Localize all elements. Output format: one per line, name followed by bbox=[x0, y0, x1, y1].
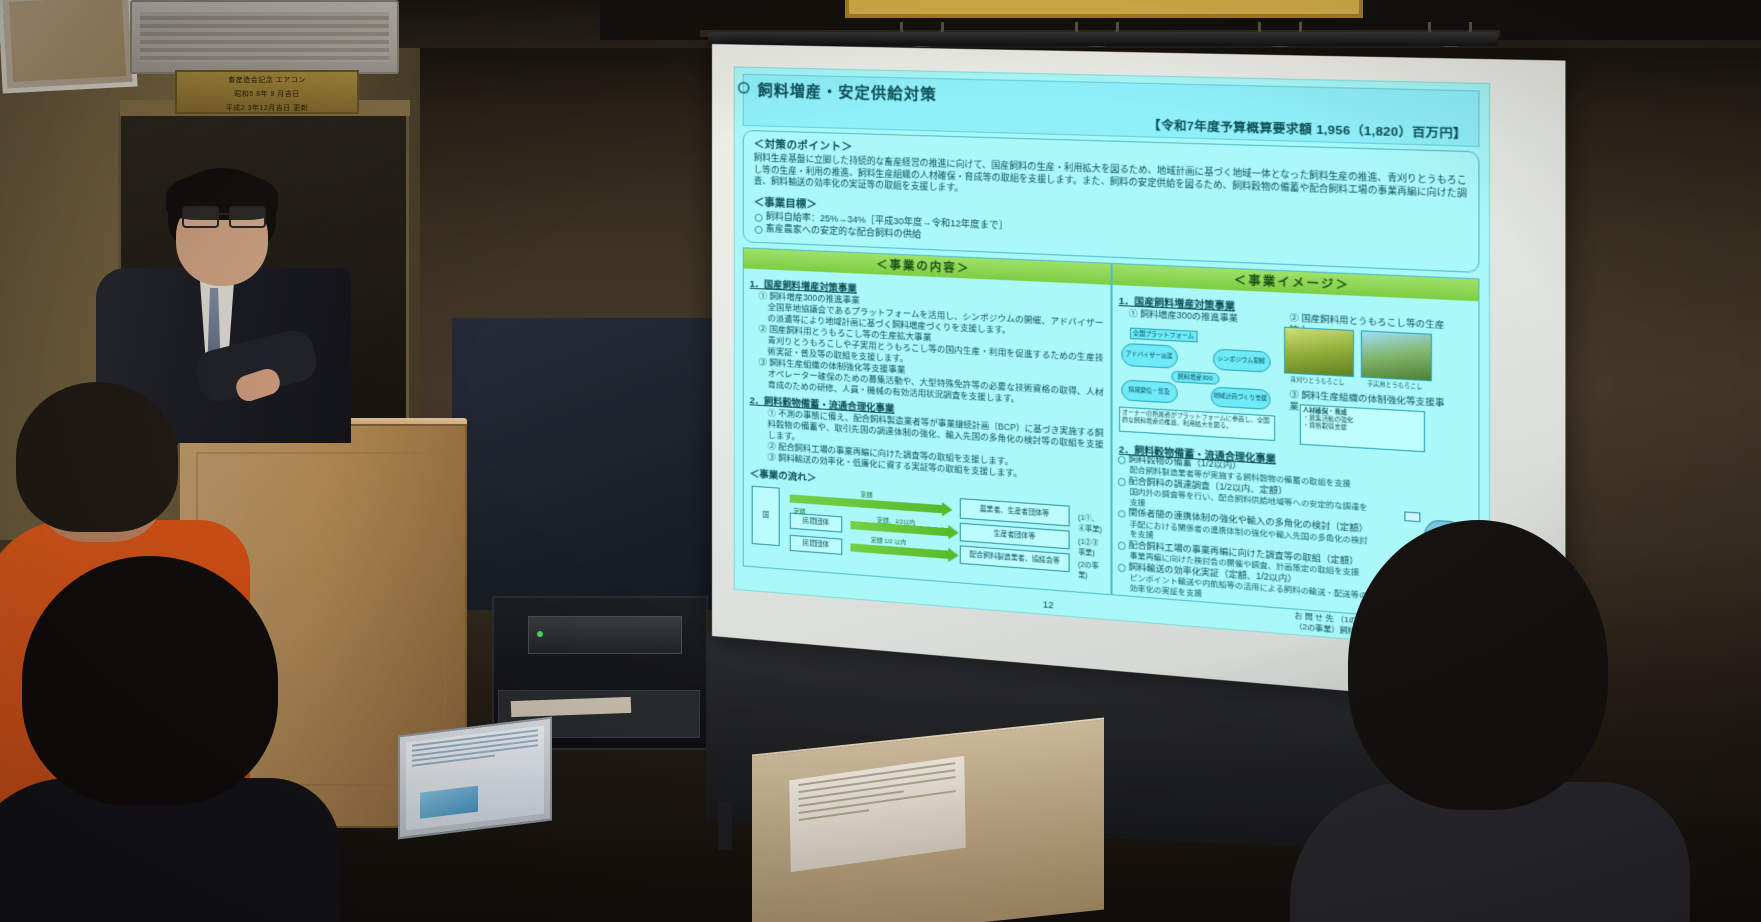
platform-chip: シンポジウム開催 bbox=[1213, 348, 1271, 372]
framed-picture-left bbox=[0, 0, 138, 93]
flow-paren: (2の事業) bbox=[1078, 558, 1103, 581]
audience-member-right-head bbox=[1348, 520, 1608, 810]
truck-icon bbox=[1404, 511, 1420, 522]
photo-field bbox=[1360, 330, 1431, 381]
laptop-screen bbox=[406, 726, 544, 831]
donation-plaque: 畜産造会記念 エアコン 昭和5 8年 9 月吉日 平成2 3年12月吉日 更新 bbox=[175, 70, 359, 114]
plaque-line-3: 平成2 3年12月吉日 更新 bbox=[177, 100, 357, 114]
page-number: 12 bbox=[1043, 599, 1054, 610]
photo-corn bbox=[1284, 326, 1354, 377]
presenter-glasses bbox=[182, 206, 262, 224]
platform-chip: 地域計画づくり支援 bbox=[1210, 386, 1270, 409]
plaque-line-2: 昭和5 8年 9 月吉日 bbox=[177, 86, 357, 100]
flow-node-kuni: 国 bbox=[752, 485, 780, 545]
flow-paren: (1②③事業) bbox=[1078, 535, 1103, 558]
column-contents-body: 1．国産飼料増産対策事業 ① 飼料増産300の推進事業 全国草地協議会であるプラ… bbox=[744, 268, 1110, 585]
slide-title-text: 飼料増産・安定供給対策 bbox=[758, 82, 937, 104]
laptop-screen-figure bbox=[420, 786, 478, 819]
conference-room-scene: 畜産造会記念 エアコン 昭和5 8年 9 月吉日 平成2 3年12月吉日 更新 … bbox=[0, 0, 1761, 922]
power-led-icon bbox=[537, 631, 543, 637]
right-bullet-list: 飼料穀物の備蓄（1/2以内） 配合飼料製造業者等が実施する飼料穀物の備蓄の取組を… bbox=[1117, 452, 1372, 612]
slide-budget-amount: 【令和7年度予算概算要求額 1,956（1,820）百万円】 bbox=[1148, 116, 1467, 142]
platform-label: 全国プラットフォーム bbox=[1130, 327, 1198, 342]
framed-picture-right bbox=[845, 0, 1363, 18]
hr-subbox: 人材確保・育成 ・募集活動の強化 ・資格取得支援 bbox=[1299, 404, 1424, 452]
column-contents: ＜事業の内容＞ 1．国産飼料増産対策事業 ① 飼料増産300の推進事業 全国草地… bbox=[743, 247, 1111, 595]
flow-node-jigyou: 農業者、生産者団体等 bbox=[960, 498, 1070, 526]
platform-center: 飼料増産300 bbox=[1171, 370, 1219, 384]
audience-member-head bbox=[16, 382, 178, 532]
laptop[interactable] bbox=[398, 717, 552, 840]
platform-note: オーナーの所属者がプラットフォームに参画し、全国的な飼料増産の推進、利用拡大を図… bbox=[1119, 406, 1275, 441]
platform-chip: アドバイザー派遣 bbox=[1121, 342, 1178, 368]
arrow-label: 定額 bbox=[794, 505, 806, 515]
plaque-line-1: 畜産造会記念 エアコン bbox=[177, 72, 357, 86]
flow-node-minkan: 民間団体 bbox=[790, 512, 843, 532]
av-player bbox=[528, 616, 682, 654]
flow-paren: (1①、④事業) bbox=[1078, 511, 1103, 534]
flow-node-haigo: 配合飼料製造業者、協議会等 bbox=[960, 545, 1070, 572]
arrow-label: 定額 bbox=[861, 489, 873, 499]
screen-leg bbox=[718, 802, 732, 850]
circle-bullet-icon bbox=[738, 82, 750, 94]
platform-chip: 情報発信・普及 bbox=[1121, 379, 1178, 403]
flow-node-minkan2: 民間団体 bbox=[790, 534, 843, 554]
air-conditioner bbox=[130, 0, 399, 74]
flow-node-seisan: 生産者団体等 bbox=[960, 522, 1070, 549]
screen-top-bar bbox=[708, 32, 1498, 46]
projected-slide: 飼料増産・安定供給対策 【令和7年度予算概算要求額 1,956（1,820）百万… bbox=[734, 66, 1490, 651]
audience-member-front-head bbox=[22, 556, 278, 806]
slide-columns: ＜事業の内容＞ 1．国産飼料増産対策事業 ① 飼料増産300の推進事業 全国草地… bbox=[743, 247, 1480, 624]
slide-title: 飼料増産・安定供給対策 bbox=[758, 79, 937, 105]
